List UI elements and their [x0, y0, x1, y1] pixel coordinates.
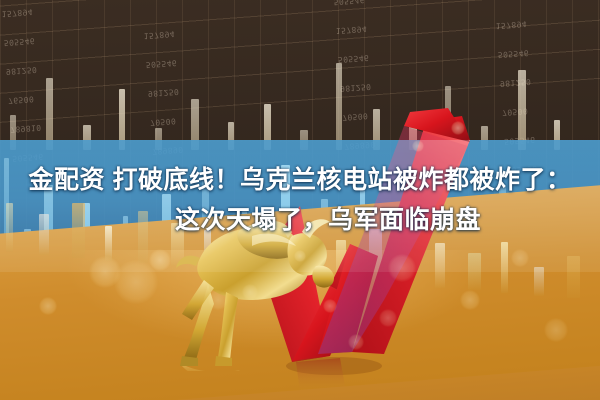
headline-text: 金配资 打破底线！乌克兰核电站被炸都被炸了： 这次天塌了，乌军面临崩盘	[0, 160, 600, 240]
headline-line-2: 这次天塌了，乌军面临崩盘	[0, 200, 600, 240]
news-thumbnail: 15789450554698125076500789810505546 1578…	[0, 0, 600, 400]
headline-line-1: 金配资 打破底线！乌克兰核电站被炸都被炸了：	[0, 160, 600, 200]
